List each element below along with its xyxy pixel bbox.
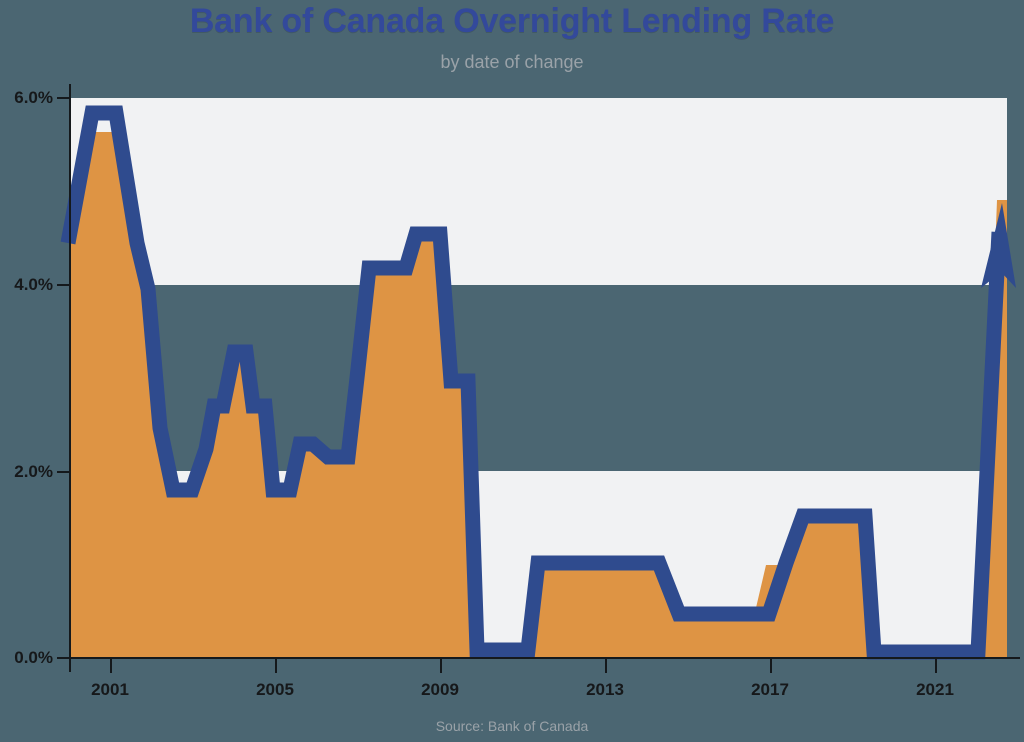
x-axis-line	[57, 657, 1020, 659]
y-tick-0	[57, 657, 70, 659]
y-tick-label-0: 0.0%	[0, 649, 53, 666]
chart-canvas: Bank of Canada Overnight Lending Rate by…	[0, 0, 1024, 742]
y-tick-label-2: 4.0%	[0, 276, 53, 293]
x-tick-2009	[440, 659, 442, 673]
series-overnight-rate	[0, 0, 1024, 742]
x-tick-label-2001: 2001	[70, 680, 150, 700]
x-tick-label-2013: 2013	[565, 680, 645, 700]
x-tick-label-2021: 2021	[895, 680, 975, 700]
x-tick-2021	[935, 659, 937, 673]
y-axis-line	[69, 84, 71, 672]
y-tick-3	[57, 97, 70, 99]
source-note: Source: Bank of Canada	[0, 718, 1024, 734]
x-tick-label-2017: 2017	[730, 680, 810, 700]
y-tick-2	[57, 284, 70, 286]
x-tick-label-2005: 2005	[235, 680, 315, 700]
y-tick-label-1: 2.0%	[0, 463, 53, 480]
x-tick-2013	[605, 659, 607, 673]
y-tick-label-3: 6.0%	[0, 89, 53, 106]
x-tick-2001	[110, 659, 112, 673]
x-tick-2005	[275, 659, 277, 673]
x-tick-2017	[770, 659, 772, 673]
x-tick-label-2009: 2009	[400, 680, 480, 700]
y-tick-1	[57, 471, 70, 473]
